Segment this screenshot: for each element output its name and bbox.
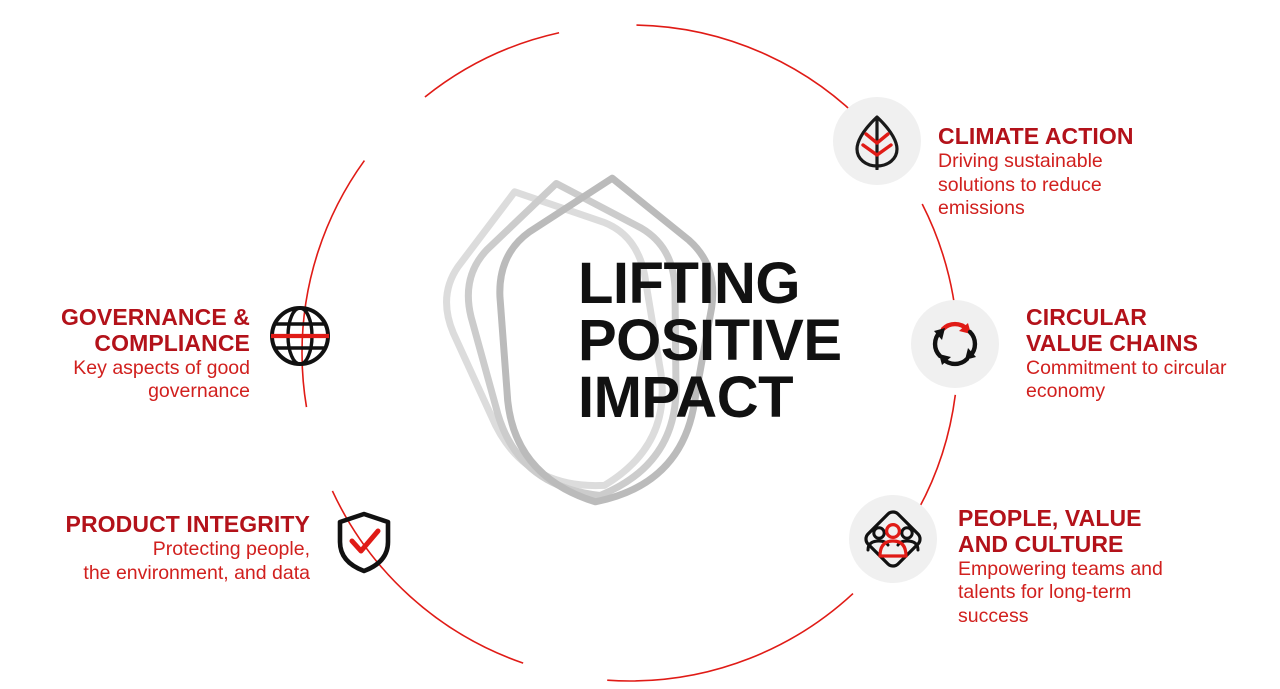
pillar-heading: GOVERNANCE & COMPLIANCE: [0, 305, 250, 357]
pillar-label-governance-and-compliance: GOVERNANCE & COMPLIANCE Key aspects of g…: [0, 305, 250, 404]
pillar-label-product-integrity: PRODUCT INTEGRITY Protecting people, the…: [0, 512, 310, 585]
pillar-heading: PEOPLE, VALUE AND CULTURE: [958, 506, 1248, 558]
pillar-description: Empowering teams and talents for long-te…: [958, 558, 1248, 629]
pillar-heading: PRODUCT INTEGRITY: [0, 512, 310, 538]
pillar-description: Commitment to circular economy: [1026, 357, 1276, 405]
pillar-heading: CIRCULAR VALUE CHAINS: [1026, 305, 1276, 357]
pillar-label-people-value-and-culture: PEOPLE, VALUE AND CULTURE Empowering tea…: [958, 506, 1248, 629]
pillar-description: Key aspects of good governance: [0, 357, 250, 405]
pillar-label-circular-value-chains: CIRCULAR VALUE CHAINS Commitment to circ…: [1026, 305, 1276, 404]
pillar-heading: CLIMATE ACTION: [938, 124, 1238, 150]
infographic-canvas: LIFTING POSITIVE IMPACT: [0, 0, 1280, 689]
pillar-description: Driving sustainable solutions to reduce …: [938, 150, 1238, 221]
pillar-description: Protecting people, the environment, and …: [0, 538, 310, 586]
pillar-label-climate-action: CLIMATE ACTION Driving sustainable solut…: [938, 124, 1238, 221]
